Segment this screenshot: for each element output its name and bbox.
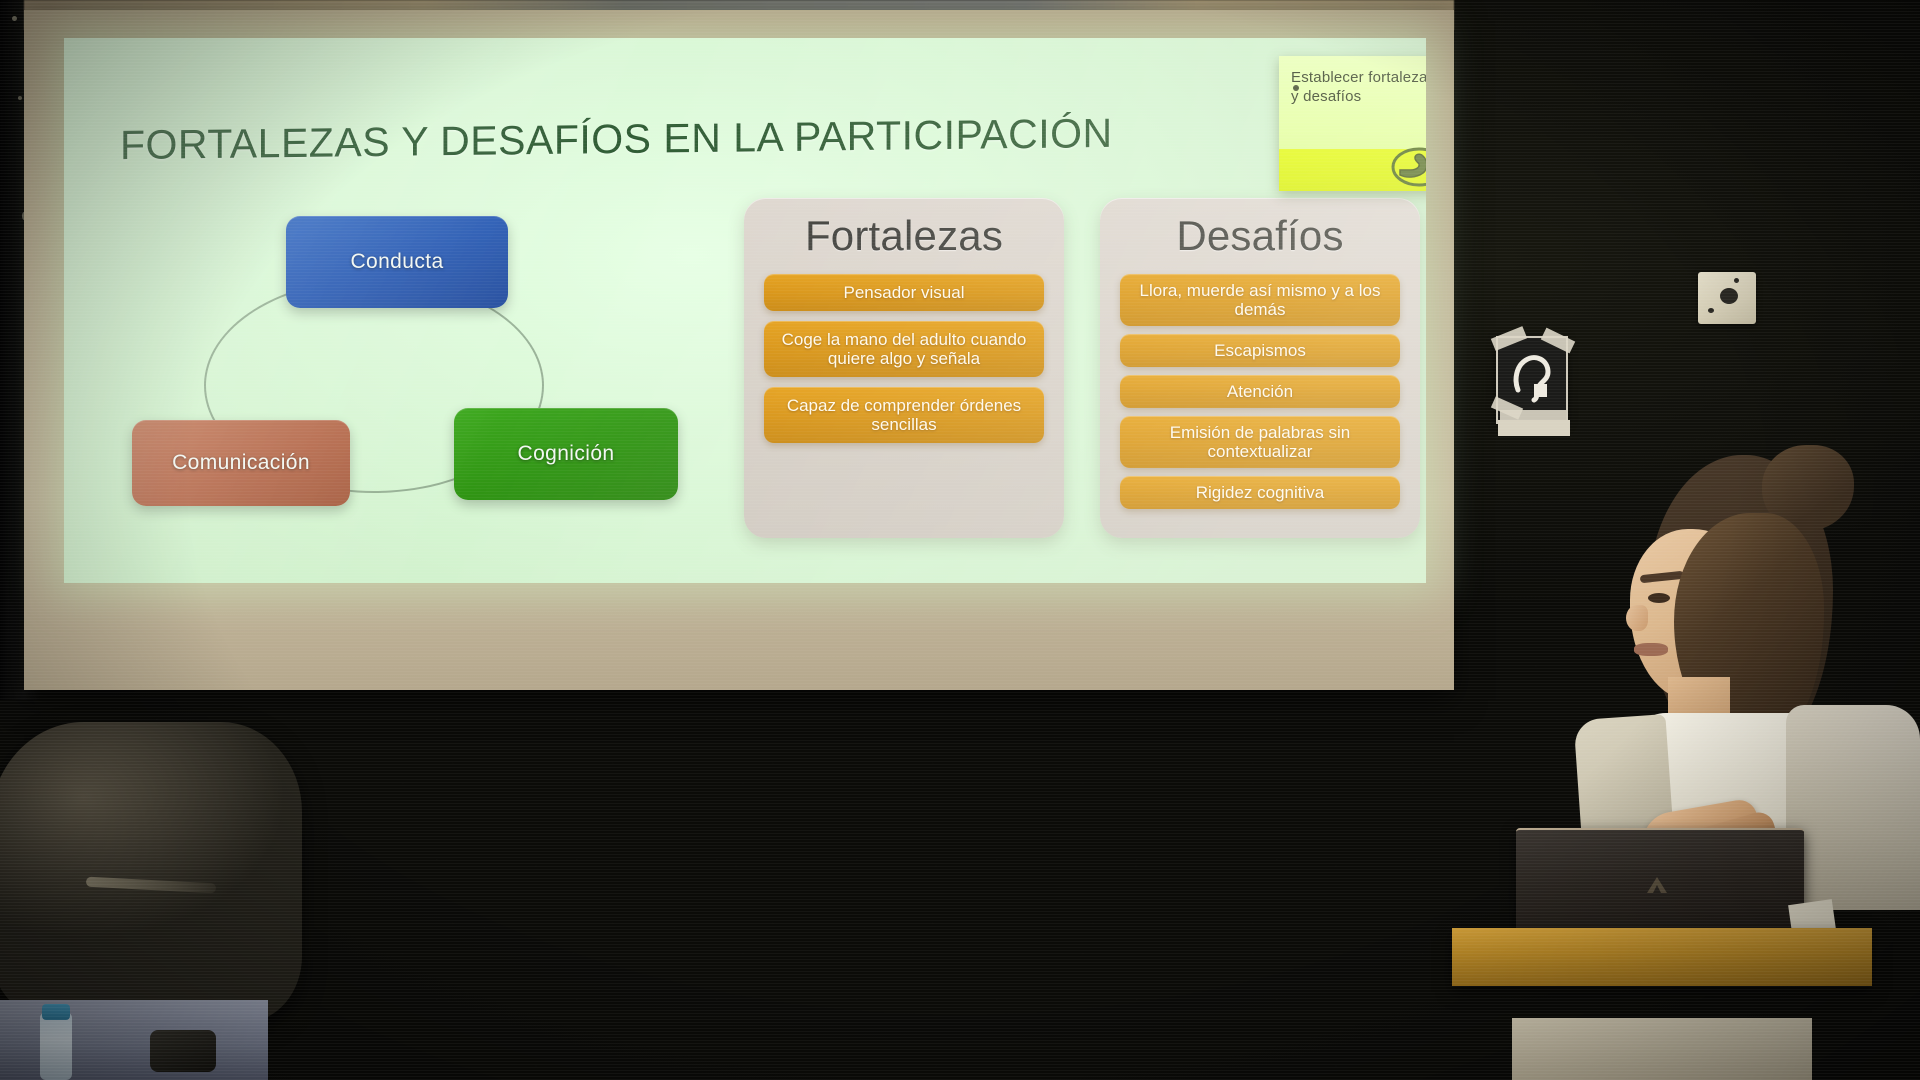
bottle-cap — [42, 1004, 70, 1020]
panel-fortalezas: Fortalezas Pensador visual Coge la mano … — [744, 198, 1064, 538]
panel-desafios: Desafíos Llora, muerde así mismo y a los… — [1100, 198, 1420, 538]
slide-note: Establecer fortalezas y desafíos — [1279, 56, 1426, 191]
desafio-item: Rigidez cognitiva — [1120, 476, 1400, 509]
note-text: Establecer fortalezas y desafíos — [1291, 69, 1426, 105]
node-comunicacion: Comunicación — [132, 420, 350, 506]
water-bottle — [40, 1012, 72, 1080]
projected-slide: FORTALEZAS Y DESAFÍOS EN LA PARTICIPACIÓ… — [64, 38, 1426, 583]
wooden-table — [1452, 928, 1872, 986]
bullet-icon — [1293, 85, 1299, 91]
desafio-item: Atención — [1120, 375, 1400, 408]
node-conducta: Conducta — [286, 216, 508, 308]
nose — [1626, 605, 1648, 631]
slide-title: FORTALEZAS Y DESAFÍOS EN LA PARTICIPACIÓ… — [120, 110, 1113, 169]
laptop[interactable] — [1516, 828, 1804, 940]
note-text-wrapper: Establecer fortalezas y desafíos — [1291, 68, 1426, 106]
sign-caption — [1498, 420, 1570, 436]
table-front-panel — [1512, 1018, 1812, 1080]
fortaleza-item: Coge la mano del adulto cuando quiere al… — [764, 321, 1044, 377]
mouth — [1634, 643, 1668, 656]
flexed-arm-logo — [1390, 145, 1426, 189]
eye — [1648, 593, 1670, 603]
desafio-item: Emisión de palabras sin contextualizar — [1120, 416, 1400, 468]
panel-fortalezas-heading: Fortalezas — [764, 212, 1044, 260]
photo-scene: FORTALEZAS Y DESAFÍOS EN LA PARTICIPACIÓ… — [0, 0, 1920, 1080]
presenter-person — [1590, 455, 1920, 885]
cycle-diagram: Conducta Comunicación Cognición — [124, 208, 684, 538]
desafio-item: Llora, muerde así mismo y a los demás — [1120, 274, 1400, 326]
ear-icon — [1504, 346, 1562, 408]
laptop-brand-logo — [1644, 874, 1670, 896]
wall-socket[interactable] — [1698, 272, 1756, 324]
cardigan-right — [1786, 705, 1920, 910]
fortaleza-item: Pensador visual — [764, 274, 1044, 311]
projection-screen: FORTALEZAS Y DESAFÍOS EN LA PARTICIPACIÓ… — [24, 10, 1454, 690]
coat-on-chair — [0, 722, 302, 1022]
hearing-loop-sign — [1496, 336, 1568, 424]
desafio-item: Escapismos — [1120, 334, 1400, 367]
node-cognicion: Cognición — [454, 408, 678, 500]
fortaleza-item: Capaz de comprender órdenes sencillas — [764, 387, 1044, 443]
phone-on-seat — [150, 1030, 216, 1072]
panel-desafios-heading: Desafíos — [1120, 212, 1400, 260]
